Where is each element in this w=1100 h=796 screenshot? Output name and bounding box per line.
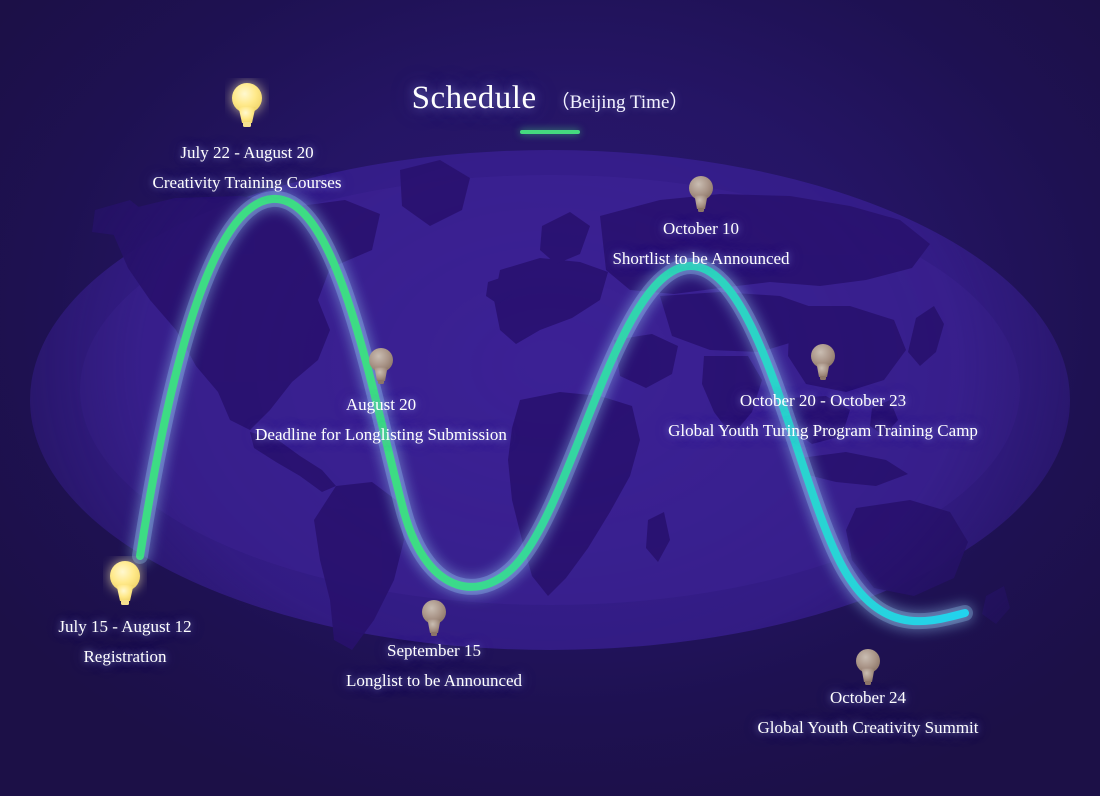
milestone-labels: August 20 Deadline for Longlisting Submi…: [255, 396, 507, 444]
page-title-timezone: （Beijing Time）: [551, 87, 689, 114]
milestone-description: Global Youth Turing Program Training Cam…: [668, 422, 978, 440]
milestone-date: October 20 - October 23: [668, 392, 978, 410]
lightbulb-unlit-icon: [851, 645, 885, 693]
milestone-date: October 10: [612, 220, 789, 238]
milestone-description: Creativity Training Courses: [153, 174, 342, 192]
page-header: Schedule （Beijing Time）: [0, 80, 1100, 134]
milestone-description: Deadline for Longlisting Submission: [255, 426, 507, 444]
milestone-labels: October 24 Global Youth Creativity Summi…: [757, 689, 978, 737]
milestone-labels: September 15 Longlist to be Announced: [346, 642, 522, 690]
milestone-date: July 22 - August 20: [153, 144, 342, 162]
milestone-description: Longlist to be Announced: [346, 672, 522, 690]
lightbulb-lit-icon: [225, 78, 269, 136]
milestone-description: Global Youth Creativity Summit: [757, 719, 978, 737]
lightbulb-unlit-icon: [684, 172, 718, 220]
milestone-labels: October 20 - October 23 Global Youth Tur…: [668, 392, 978, 440]
schedule-page: Schedule （Beijing Time）: [0, 0, 1100, 796]
milestone-date: September 15: [346, 642, 522, 660]
page-title: Schedule: [412, 80, 537, 117]
lightbulb-unlit-icon: [417, 596, 451, 644]
milestone-date: October 24: [757, 689, 978, 707]
milestone-labels: July 15 - August 12 Registration: [58, 618, 191, 666]
lightbulb-lit-icon: [103, 556, 147, 614]
lightbulb-unlit-icon: [806, 340, 840, 388]
milestone-date: August 20: [255, 396, 507, 414]
lightbulb-unlit-icon: [364, 344, 398, 392]
milestone-labels: July 22 - August 20 Creativity Training …: [153, 144, 342, 192]
title-underline: [520, 130, 580, 134]
milestone-description: Registration: [58, 648, 191, 666]
milestone-labels: October 10 Shortlist to be Announced: [612, 220, 789, 268]
milestone-description: Shortlist to be Announced: [612, 250, 789, 268]
title-row: Schedule （Beijing Time）: [412, 80, 689, 117]
milestone-date: July 15 - August 12: [58, 618, 191, 636]
